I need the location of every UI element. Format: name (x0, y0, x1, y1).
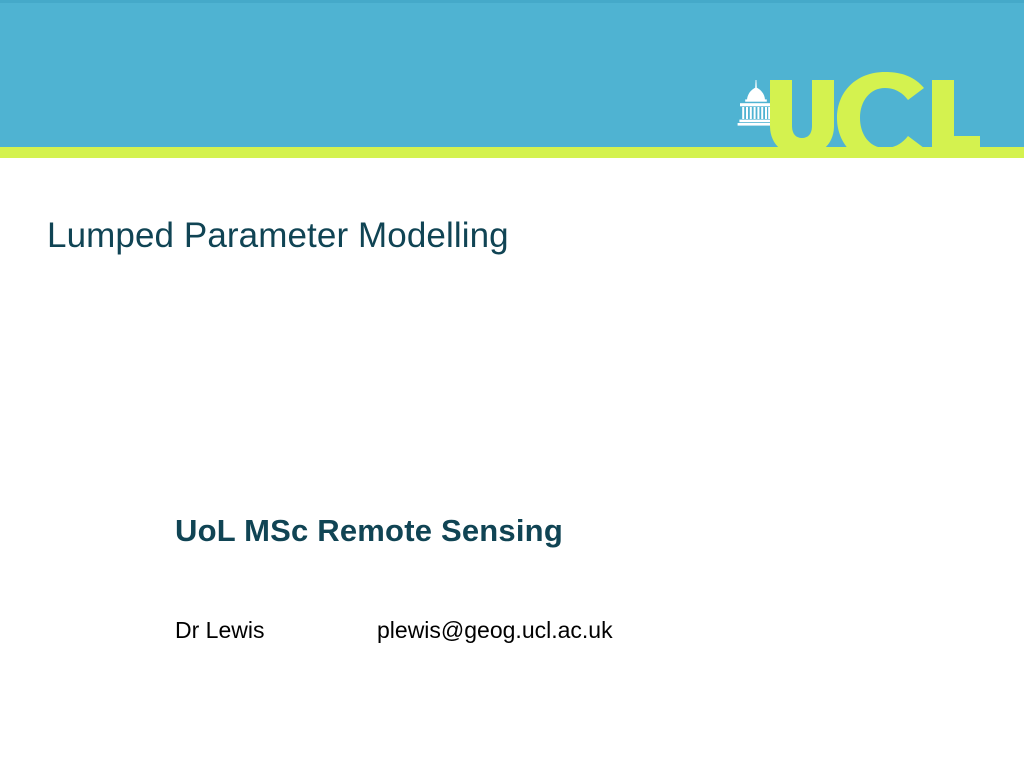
contact-row: Dr Lewisplewis@geog.ucl.ac.uk (175, 616, 875, 644)
presenter-email: plewis@geog.ucl.ac.uk (377, 616, 613, 644)
header-top-accent-line (0, 0, 1024, 3)
course-heading: UoL MSc Remote Sensing (175, 512, 875, 550)
slide-body: UoL MSc Remote Sensing Dr Lewisplewis@ge… (175, 512, 875, 644)
presenter-name: Dr Lewis (175, 616, 377, 644)
presentation-slide: Lumped Parameter Modelling UoL MSc Remot… (0, 0, 1024, 768)
ucl-wordmark (768, 72, 980, 158)
ucl-logo (736, 72, 980, 158)
slide-title: Lumped Parameter Modelling (47, 215, 509, 257)
